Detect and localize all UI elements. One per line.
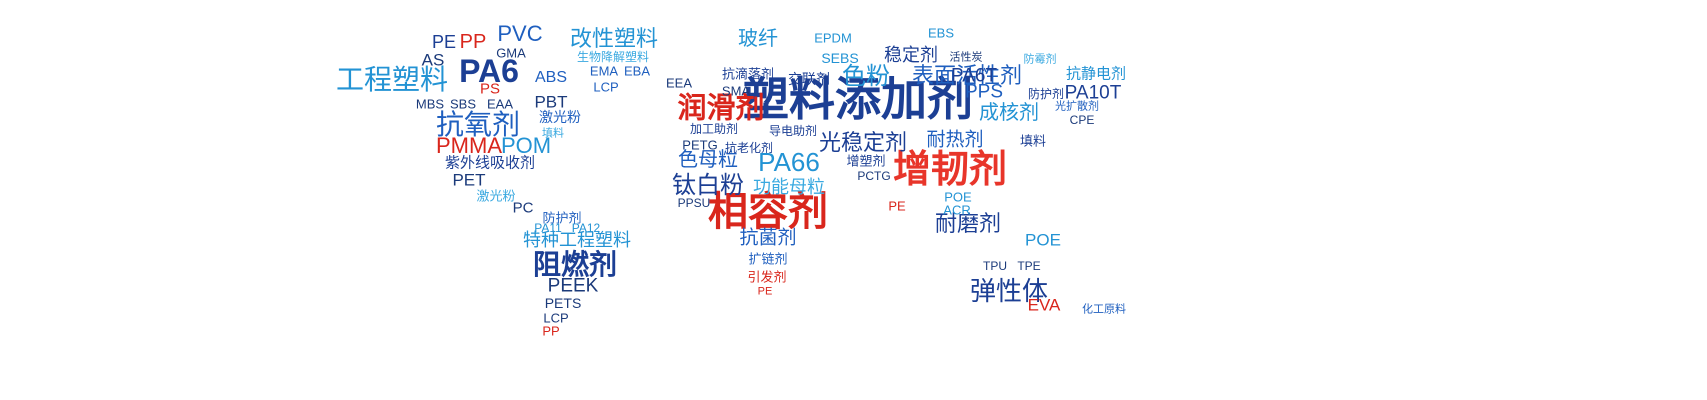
word-cloud-term[interactable]: PE [758,287,773,298]
word-cloud-term[interactable]: TPE [1017,260,1040,272]
word-cloud-term[interactable]: PCTG [857,170,890,182]
word-cloud-term[interactable]: GMA [496,47,526,60]
word-cloud-term[interactable]: 化工原料 [1082,305,1126,316]
word-cloud-term[interactable]: 改性塑料 [570,28,658,50]
word-cloud-term[interactable]: 防霉剂 [1024,55,1057,66]
word-cloud-term[interactable]: 增韧剂 [893,151,1007,189]
word-cloud-term[interactable]: 填料 [1020,135,1046,148]
word-cloud-term[interactable]: 生物降解塑料 [577,51,649,63]
word-cloud-term[interactable]: 防护剂 [1028,88,1064,100]
word-cloud-term[interactable]: SBS [450,98,476,111]
word-cloud-term[interactable]: 增塑剂 [846,155,885,168]
word-cloud-term[interactable]: LCP [593,81,618,94]
word-cloud-term[interactable]: PA12 [572,222,600,234]
word-cloud-term[interactable]: 扩链剂 [748,253,787,266]
word-cloud-term[interactable]: 引发剂 [747,271,786,284]
word-cloud-term[interactable]: 填料 [542,129,564,140]
word-cloud-term[interactable]: 钛白粉 [672,174,744,198]
word-cloud-term[interactable]: 抗老化剂 [725,142,773,154]
word-cloud-term[interactable]: EAA [487,98,513,111]
word-cloud-canvas: 塑料添加剂相容剂增韧剂润滑剂阻燃剂工程塑料抗氧剂PA6表面活性剂光稳定剂色粉钛白… [0,0,1707,400]
word-cloud-term[interactable]: CPE [1070,114,1095,126]
word-cloud-term[interactable]: POE [1025,232,1061,249]
word-cloud-term[interactable]: PEEK [548,277,599,296]
word-cloud-term[interactable]: 抗菌剂 [739,229,796,248]
word-cloud-term[interactable]: PP [460,32,487,52]
word-cloud-term[interactable]: PETS [545,296,582,310]
word-cloud-term[interactable]: 润滑剂 [677,95,764,124]
word-cloud-term[interactable]: PPS [965,83,1003,102]
word-cloud-term[interactable]: 光稳定剂 [819,132,907,154]
word-cloud-term[interactable]: PC [513,201,534,216]
word-cloud-term[interactable]: 成核剂 [979,103,1039,123]
word-cloud-term[interactable]: 加工助剂 [690,123,738,135]
word-cloud-term[interactable]: TPU [983,260,1007,272]
word-cloud-term[interactable]: PE [432,33,456,51]
word-cloud-term[interactable]: 工程塑料 [336,66,448,94]
word-cloud-term[interactable]: EBS [928,27,954,40]
word-cloud-term[interactable]: 紫外线吸收剂 [445,156,535,171]
word-cloud-term[interactable]: PP [542,325,559,338]
word-cloud-term[interactable]: PBT [534,94,567,111]
word-cloud-term[interactable]: PPSU [678,197,711,209]
word-cloud-term[interactable]: AS [422,52,445,69]
word-cloud-term[interactable]: MBS [416,98,444,111]
word-cloud-term[interactable]: PETG [682,139,717,152]
word-cloud-term[interactable]: 激光粉 [539,110,581,124]
word-cloud-term[interactable]: EPDM [814,32,852,45]
word-cloud-term[interactable]: SMA [722,85,750,98]
word-cloud-term[interactable]: ABS [535,70,567,86]
word-cloud-term[interactable]: 导电助剂 [769,125,817,137]
word-cloud-term[interactable]: 抗滴落剂 [722,68,774,81]
word-cloud-term[interactable]: 光扩散剂 [1055,102,1099,113]
word-cloud-term[interactable]: 耐热剂 [926,131,983,150]
word-cloud-term[interactable]: EMA [590,65,618,78]
word-cloud-term[interactable]: 交联剂 [788,72,830,86]
word-cloud-term[interactable]: 抗静电剂 [1066,67,1126,82]
word-cloud-term[interactable]: EBA [624,65,650,78]
word-cloud-term[interactable]: ACR [943,204,970,217]
word-cloud-term[interactable]: PS [480,82,500,97]
word-cloud-term[interactable]: PET [452,172,485,189]
word-cloud-term[interactable]: 活性炭 [950,53,983,64]
word-cloud-term[interactable]: 稳定剂 [884,46,938,64]
word-cloud-term[interactable]: PE [888,200,905,213]
word-cloud-term[interactable]: 激光粉 [476,190,515,203]
word-cloud-term[interactable]: SEBS [821,51,858,65]
word-cloud-term[interactable]: EEA [666,77,692,90]
word-cloud-term[interactable]: PVC [497,23,542,45]
word-cloud-term[interactable]: EVA [1028,297,1061,314]
word-cloud-term[interactable]: 色粉 [842,65,890,89]
word-cloud-term[interactable]: 功能母粒 [753,178,825,196]
word-cloud-term[interactable]: PA11 [534,222,562,234]
word-cloud-term[interactable]: 玻纤 [738,29,778,49]
